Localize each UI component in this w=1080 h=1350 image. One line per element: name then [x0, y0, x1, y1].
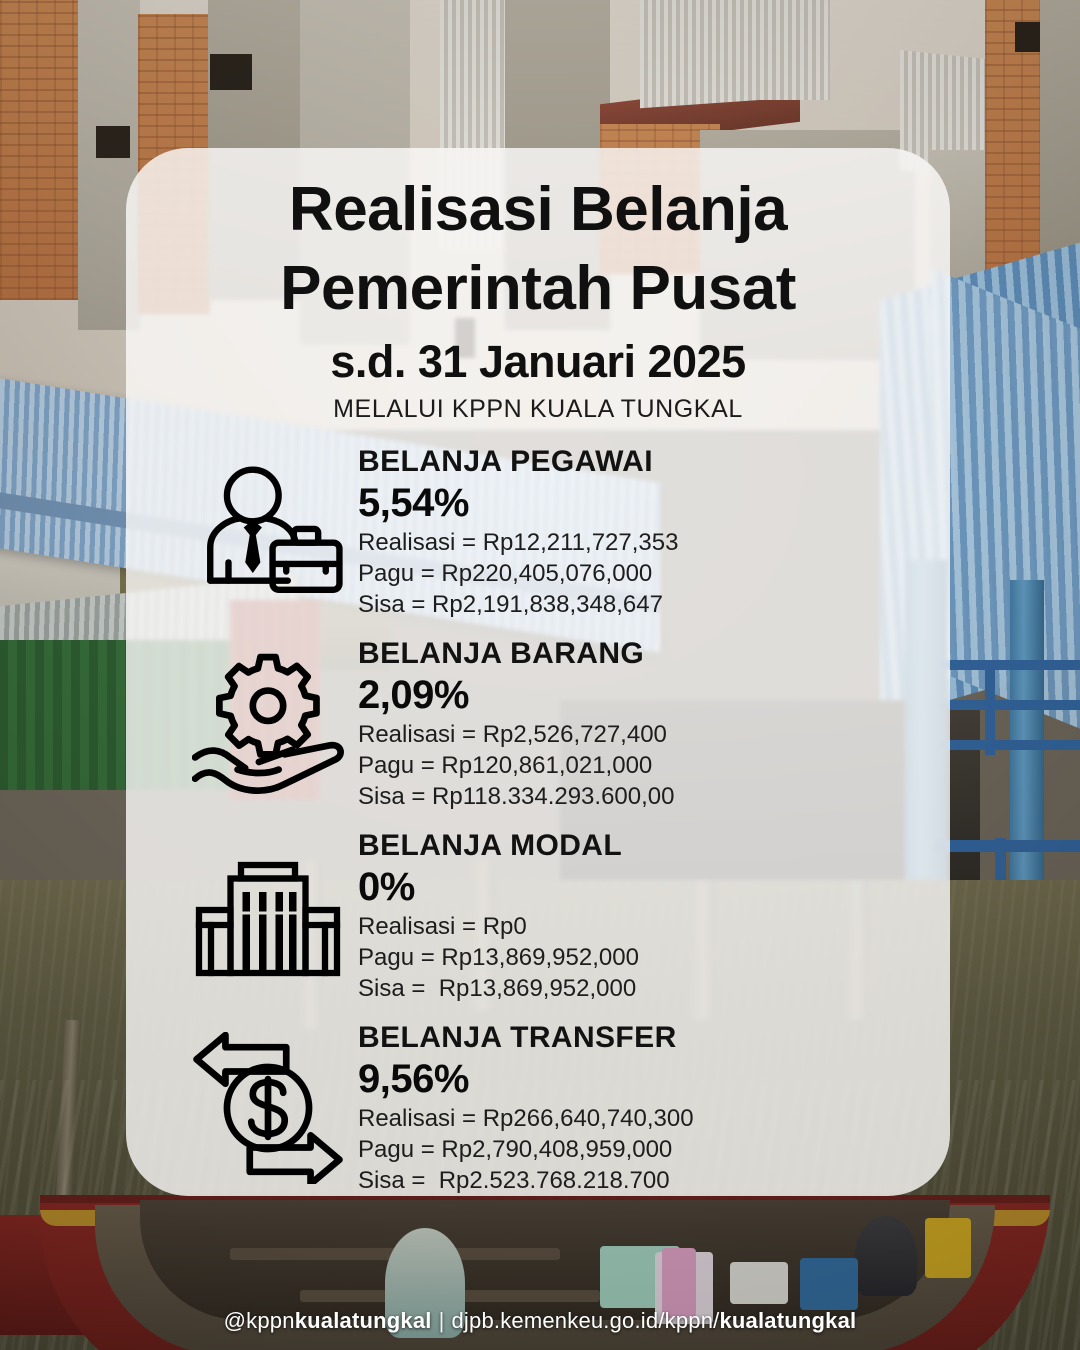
realisasi-line: Realisasi = Rp0: [358, 911, 888, 942]
page-title: Realisasi Belanja Pemerintah Pusat: [126, 170, 950, 329]
sisa-line: Sisa = Rp2,191,838,348,647: [358, 589, 888, 620]
gear-on-hand-icon: [188, 644, 348, 804]
building-icon: [188, 836, 348, 996]
footer-separator: |: [439, 1308, 445, 1334]
pagu-line: Pagu = Rp2,790,408,959,000: [358, 1134, 888, 1165]
sisa-line: Sisa = Rp13,869,952,000: [358, 973, 888, 1004]
percent-value: 5,54%: [358, 480, 888, 527]
percent-value: 9,56%: [358, 1056, 888, 1103]
sisa-line: Sisa = Rp118.334.293.600,00: [358, 781, 888, 812]
social-handle-bold: kualatungkal: [295, 1308, 432, 1334]
employee-briefcase-icon: [188, 452, 348, 612]
list-item-text: BELANJA MODAL 0% Realisasi = Rp0 Pagu = …: [348, 830, 888, 1004]
list-item: BELANJA BARANG 2,09% Realisasi = Rp2,526…: [188, 638, 888, 816]
spending-list: BELANJA PEGAWAI 5,54% Realisasi = Rp12,2…: [188, 446, 888, 1214]
category-label: BELANJA TRANSFER: [358, 1022, 888, 1054]
realisasi-line: Realisasi = Rp12,211,727,353: [358, 527, 888, 558]
title-line-1: Realisasi Belanja: [126, 170, 950, 249]
website-url-bold: kualatungkal: [719, 1308, 856, 1334]
realisasi-line: Realisasi = Rp2,526,727,400: [358, 719, 888, 750]
pagu-line: Pagu = Rp13,869,952,000: [358, 942, 888, 973]
sisa-line: Sisa = Rp2.523.768.218.700: [358, 1165, 888, 1196]
list-item: BELANJA PEGAWAI 5,54% Realisasi = Rp12,2…: [188, 446, 888, 624]
pagu-line: Pagu = Rp120,861,021,000: [358, 750, 888, 781]
percent-value: 0%: [358, 864, 888, 911]
category-label: BELANJA PEGAWAI: [358, 446, 888, 478]
realisasi-line: Realisasi = Rp266,640,740,300: [358, 1103, 888, 1134]
website-url-prefix: djpb.kemenkeu.go.id/kppn/: [452, 1308, 720, 1334]
percent-value: 2,09%: [358, 672, 888, 719]
list-item-text: BELANJA BARANG 2,09% Realisasi = Rp2,526…: [348, 638, 888, 812]
money-transfer-icon: [188, 1028, 348, 1188]
list-item-text: BELANJA TRANSFER 9,56% Realisasi = Rp266…: [348, 1022, 888, 1196]
footer-credits: @kppnkualatungkal|djpb.kemenkeu.go.id/kp…: [0, 1292, 1080, 1350]
infographic-poster: Realisasi Belanja Pemerintah Pusat s.d. …: [0, 0, 1080, 1350]
list-item-text: BELANJA PEGAWAI 5,54% Realisasi = Rp12,2…: [348, 446, 888, 620]
title-office: MELALUI KPPN KUALA TUNGKAL: [126, 395, 950, 424]
category-label: BELANJA BARANG: [358, 638, 888, 670]
pagu-line: Pagu = Rp220,405,076,000: [358, 558, 888, 589]
title-line-2: Pemerintah Pusat: [126, 249, 950, 328]
title-period: s.d. 31 Januari 2025: [126, 336, 950, 388]
category-label: BELANJA MODAL: [358, 830, 888, 862]
list-item: BELANJA MODAL 0% Realisasi = Rp0 Pagu = …: [188, 830, 888, 1008]
content-card: Realisasi Belanja Pemerintah Pusat s.d. …: [126, 148, 950, 1196]
list-item: BELANJA TRANSFER 9,56% Realisasi = Rp266…: [188, 1022, 888, 1200]
social-handle-prefix: @kppn: [224, 1308, 295, 1334]
